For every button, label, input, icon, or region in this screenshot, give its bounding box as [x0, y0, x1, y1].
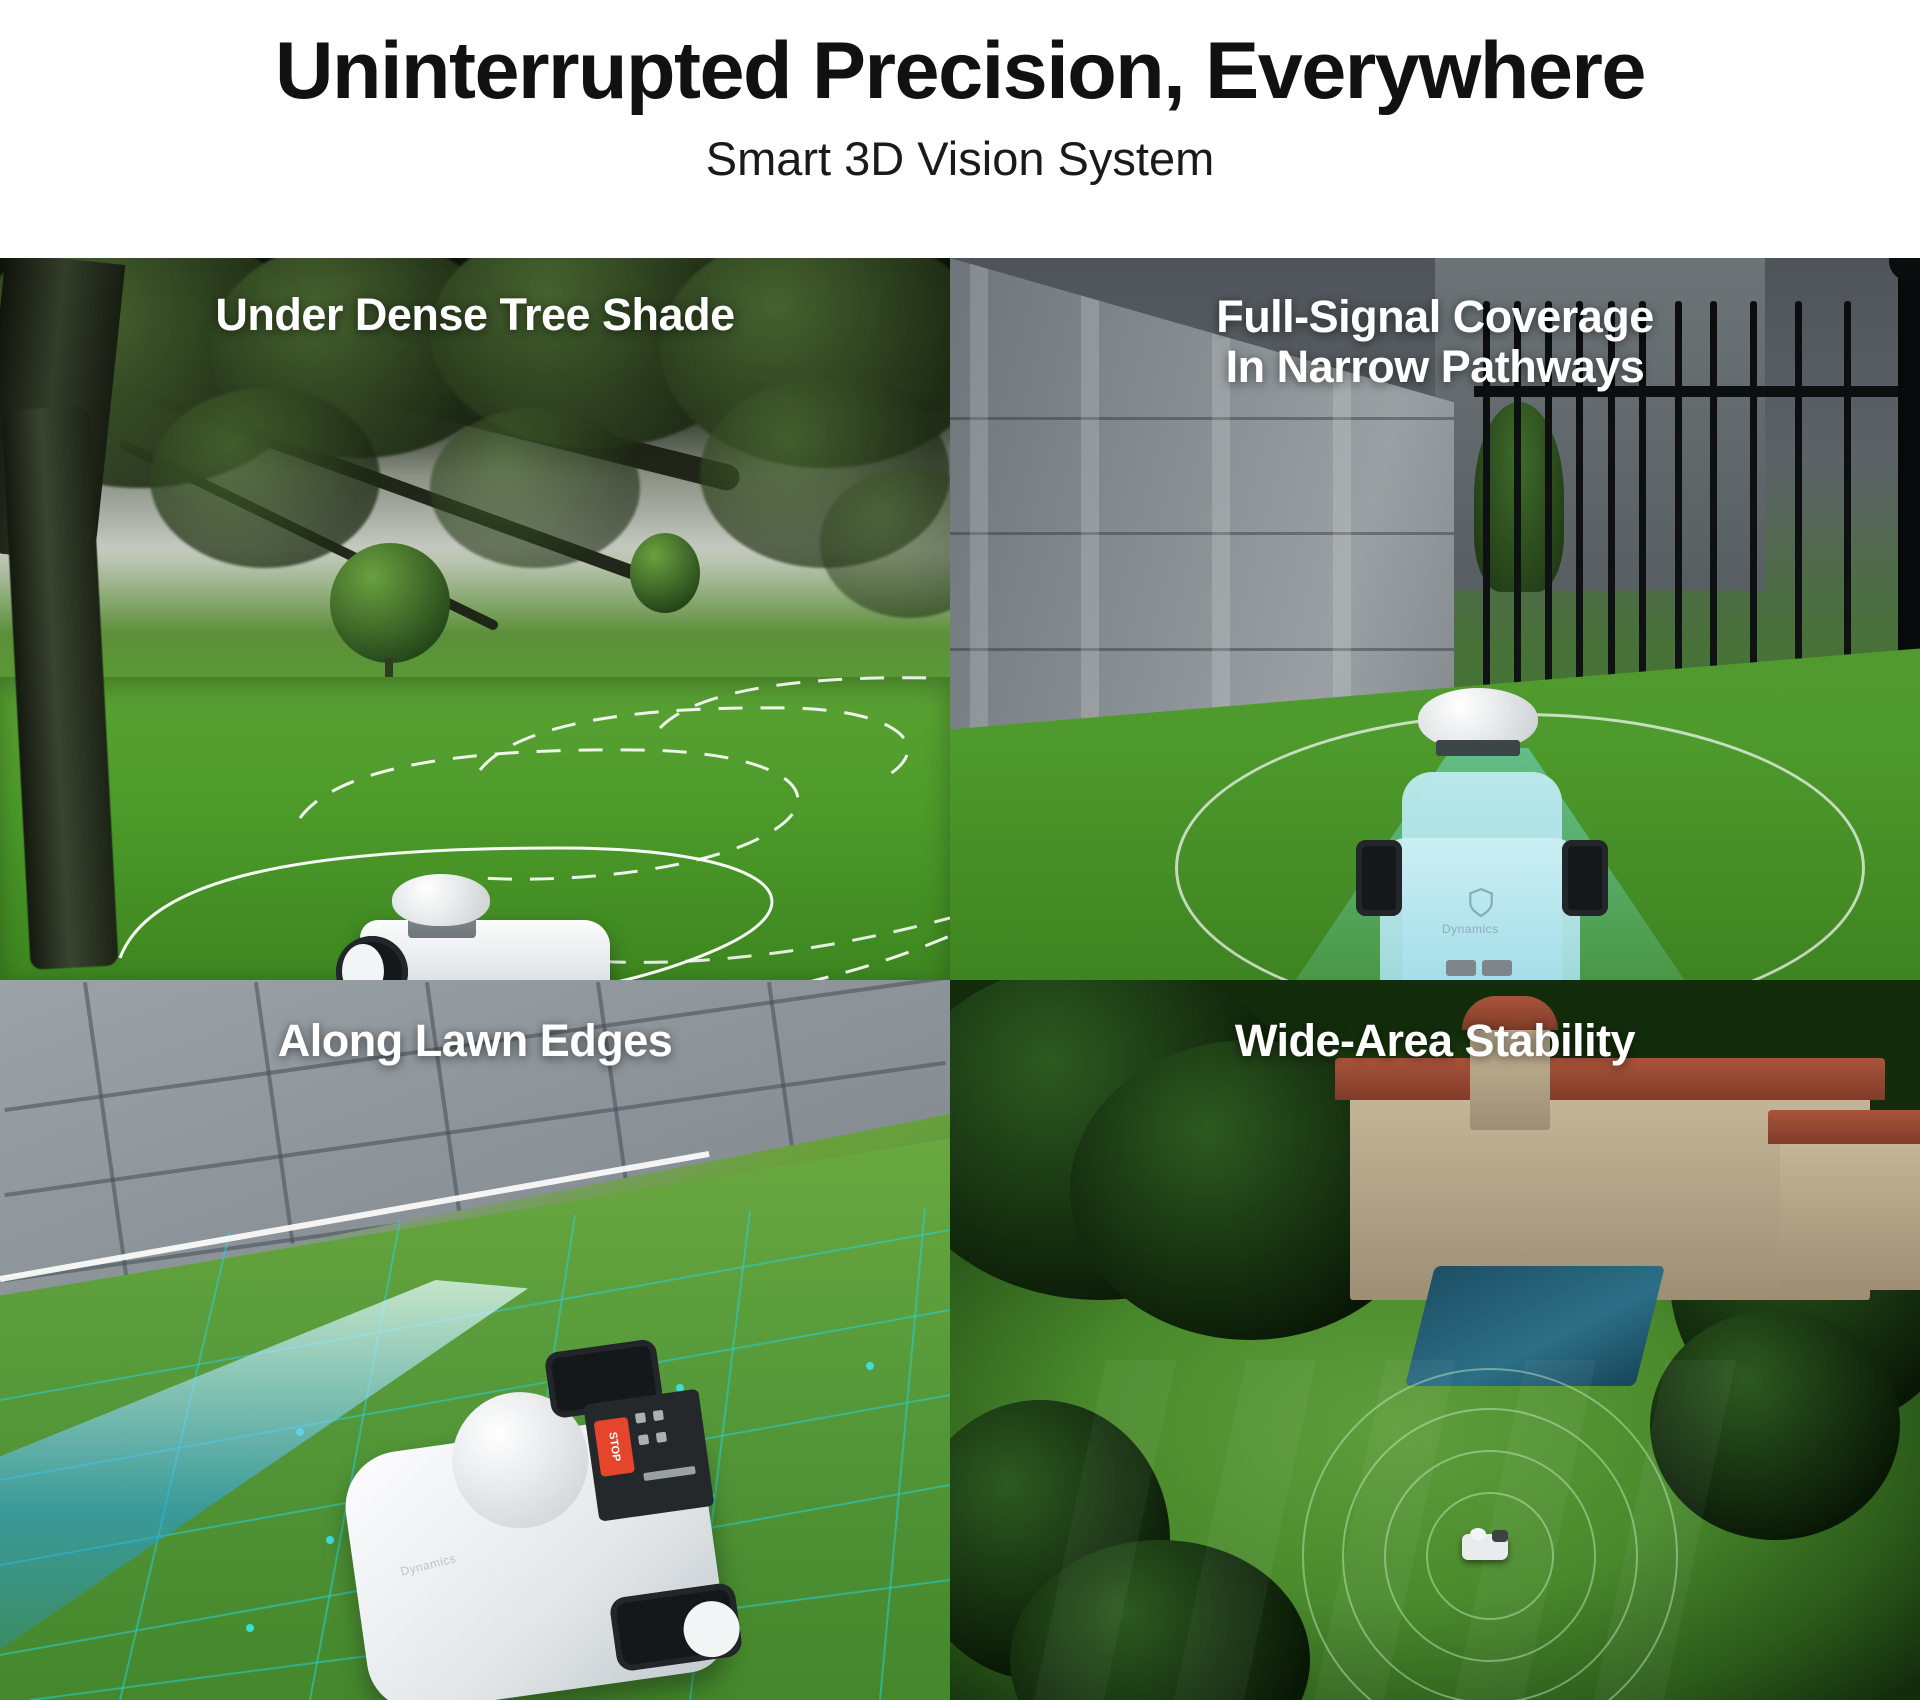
panel-caption-1: Under Dense Tree Shade — [0, 290, 950, 340]
panel-caption-2-line2: In Narrow Pathways — [950, 342, 1920, 392]
header-band: Uninterrupted Precision, Everywhere Smar… — [0, 0, 1920, 258]
fence-finial — [1889, 258, 1920, 281]
feature-grid: Under Dense Tree Shade — [0, 258, 1920, 1700]
panel-wide-area-stability: Wide-Area Stability — [950, 980, 1920, 1700]
brand-logo-text: Dynamics — [1442, 922, 1499, 936]
panel-caption-4: Wide-Area Stability — [950, 1016, 1920, 1066]
panel-caption-3: Along Lawn Edges — [0, 1016, 950, 1066]
panel-caption-2: Full-Signal Coverage In Narrow Pathways — [950, 292, 1920, 393]
mansion-wing — [1780, 1130, 1920, 1290]
page-subtitle: Smart 3D Vision System — [706, 131, 1214, 186]
panel-full-signal-coverage: Dynamics Full-Signal Coverage In Narrow … — [950, 258, 1920, 980]
mowing-path-overlay — [0, 258, 950, 980]
panel-along-lawn-edges: STOP Dynamics Along Lawn Edges — [0, 980, 950, 1700]
brand-shield-icon — [1468, 888, 1494, 918]
marketing-image: Uninterrupted Precision, Everywhere Smar… — [0, 0, 1920, 1700]
panel-under-dense-tree-shade: Under Dense Tree Shade — [0, 258, 950, 980]
mansion-wing-roof — [1768, 1110, 1920, 1144]
page-title: Uninterrupted Precision, Everywhere — [275, 28, 1645, 115]
panel-caption-2-line1: Full-Signal Coverage — [950, 292, 1920, 342]
